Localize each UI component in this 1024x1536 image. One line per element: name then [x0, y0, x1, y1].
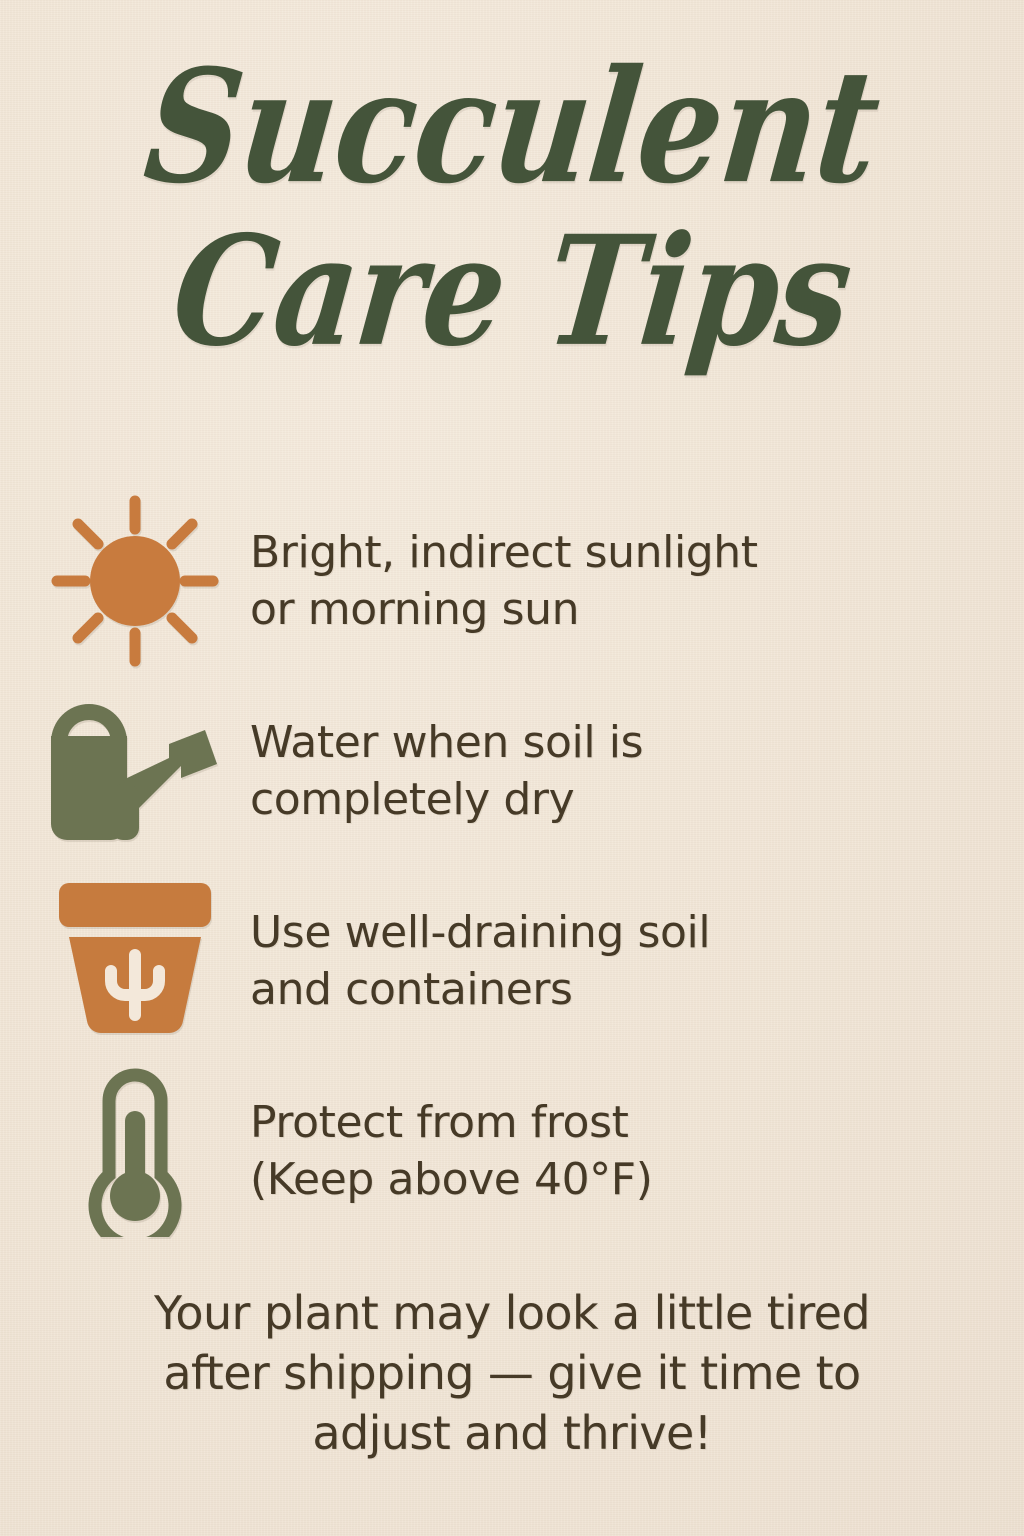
- care-tips-list: Bright, indirect sunlight or morning sun…: [0, 486, 1024, 1246]
- tip-text-sunlight: Bright, indirect sunlight or morning sun: [250, 524, 758, 638]
- footer-line-3: adjust and thrive!: [0, 1404, 1024, 1464]
- tip-line-1: Water when soil is: [250, 717, 643, 768]
- thermometer-icon: [0, 1061, 250, 1241]
- tip-text-soil: Use well-draining soil and containers: [250, 904, 710, 1018]
- tip-line-2: (Keep above 40°F): [250, 1151, 652, 1208]
- tip-line-1: Bright, indirect sunlight: [250, 527, 758, 578]
- title-line-succulent: Succulent: [0, 50, 1024, 206]
- tip-line-2: or morning sun: [250, 581, 758, 638]
- succulent-care-tips-poster: Succulent Care Tips: [0, 0, 1024, 1536]
- tip-row-frost: Protect from frost (Keep above 40°F): [0, 1056, 1024, 1246]
- sun-icon: [0, 491, 250, 671]
- tip-text-watering: Water when soil is completely dry: [250, 714, 643, 828]
- title-line-care-tips: Care Tips: [0, 216, 1024, 367]
- tip-line-1: Protect from frost: [250, 1097, 628, 1148]
- terracotta-pot-icon: [0, 871, 250, 1051]
- poster-title: Succulent Care Tips: [0, 62, 1024, 356]
- footer-line-1: Your plant may look a little tired: [0, 1284, 1024, 1344]
- tip-line-1: Use well-draining soil: [250, 907, 710, 958]
- footer-note: Your plant may look a little tired after…: [0, 1284, 1024, 1463]
- tip-line-2: and containers: [250, 961, 710, 1018]
- tip-row-watering: Water when soil is completely dry: [0, 676, 1024, 866]
- tip-text-frost: Protect from frost (Keep above 40°F): [250, 1094, 652, 1208]
- footer-line-2: after shipping — give it time to: [0, 1344, 1024, 1404]
- watering-can-icon: [0, 681, 250, 861]
- tip-line-2: completely dry: [250, 771, 643, 828]
- tip-row-soil: Use well-draining soil and containers: [0, 866, 1024, 1056]
- tip-row-sunlight: Bright, indirect sunlight or morning sun: [0, 486, 1024, 676]
